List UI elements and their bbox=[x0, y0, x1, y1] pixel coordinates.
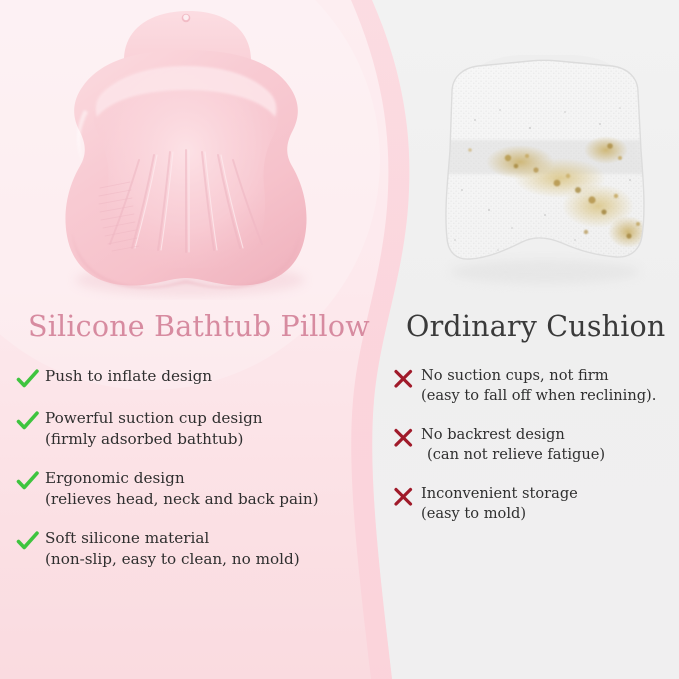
feature-text: No suction cups, not firm (easy to fall … bbox=[416, 366, 656, 406]
left-column: Silicone Bathtub Pillow Push to inflate … bbox=[0, 300, 370, 588]
feature-text: Soft silicone material (non-slip, easy t… bbox=[40, 528, 300, 570]
feature-sub: (non-slip, easy to clean, no mold) bbox=[45, 549, 300, 570]
feature-sub: (can not relieve fatigue) bbox=[421, 445, 605, 465]
feature-item: Ergonomic design (relieves head, neck an… bbox=[16, 468, 370, 510]
feature-sub: (easy to fall off when reclining). bbox=[421, 386, 656, 406]
feature-text: Inconvenient storage (easy to mold) bbox=[416, 484, 578, 524]
feature-sub: (firmly adsorbed bathtub) bbox=[45, 429, 263, 450]
check-icon bbox=[16, 410, 40, 432]
cross-icon bbox=[392, 368, 416, 390]
check-icon bbox=[16, 470, 40, 492]
feature-item: Powerful suction cup design (firmly adso… bbox=[16, 408, 370, 450]
feature-text: Ergonomic design (relieves head, neck an… bbox=[40, 468, 319, 510]
feature-main: Ergonomic design bbox=[45, 468, 319, 489]
feature-text: No backrest design (can not relieve fati… bbox=[416, 425, 605, 465]
feature-main: Soft silicone material bbox=[45, 528, 300, 549]
product-comparison-infographic: Silicone Bathtub Pillow Push to inflate … bbox=[0, 0, 679, 679]
check-icon bbox=[16, 530, 40, 552]
feature-item: Soft silicone material (non-slip, easy t… bbox=[16, 528, 370, 570]
feature-item: No suction cups, not firm (easy to fall … bbox=[392, 366, 679, 406]
cross-icon bbox=[392, 427, 416, 449]
feature-sub: (relieves head, neck and back pain) bbox=[45, 489, 319, 510]
feature-main: No backrest design bbox=[421, 425, 605, 445]
feature-sub: (easy to mold) bbox=[421, 504, 578, 524]
check-icon bbox=[16, 368, 40, 390]
feature-item: Push to inflate design bbox=[16, 366, 370, 390]
feature-text: Push to inflate design bbox=[40, 366, 212, 387]
feature-item: Inconvenient storage (easy to mold) bbox=[392, 484, 679, 524]
left-feature-list: Push to inflate design Powerful suction … bbox=[16, 366, 370, 570]
right-product-title: Ordinary Cushion bbox=[406, 310, 679, 343]
product-images bbox=[0, 0, 679, 300]
feature-main: Powerful suction cup design bbox=[45, 408, 263, 429]
feature-item: No backrest design (can not relieve fati… bbox=[392, 425, 679, 465]
feature-text: Powerful suction cup design (firmly adso… bbox=[40, 408, 263, 450]
right-feature-list: No suction cups, not firm (easy to fall … bbox=[392, 366, 679, 524]
left-product-title: Silicone Bathtub Pillow bbox=[28, 310, 370, 343]
feature-main: Push to inflate design bbox=[45, 366, 212, 387]
feature-main: No suction cups, not firm bbox=[421, 366, 656, 386]
feature-main: Inconvenient storage bbox=[421, 484, 578, 504]
cross-icon bbox=[392, 486, 416, 508]
right-column: Ordinary Cushion No suction cups, not fi… bbox=[392, 300, 679, 543]
ordinary-cushion-illustration bbox=[430, 40, 670, 284]
silicone-pillow-illustration bbox=[65, 11, 306, 296]
